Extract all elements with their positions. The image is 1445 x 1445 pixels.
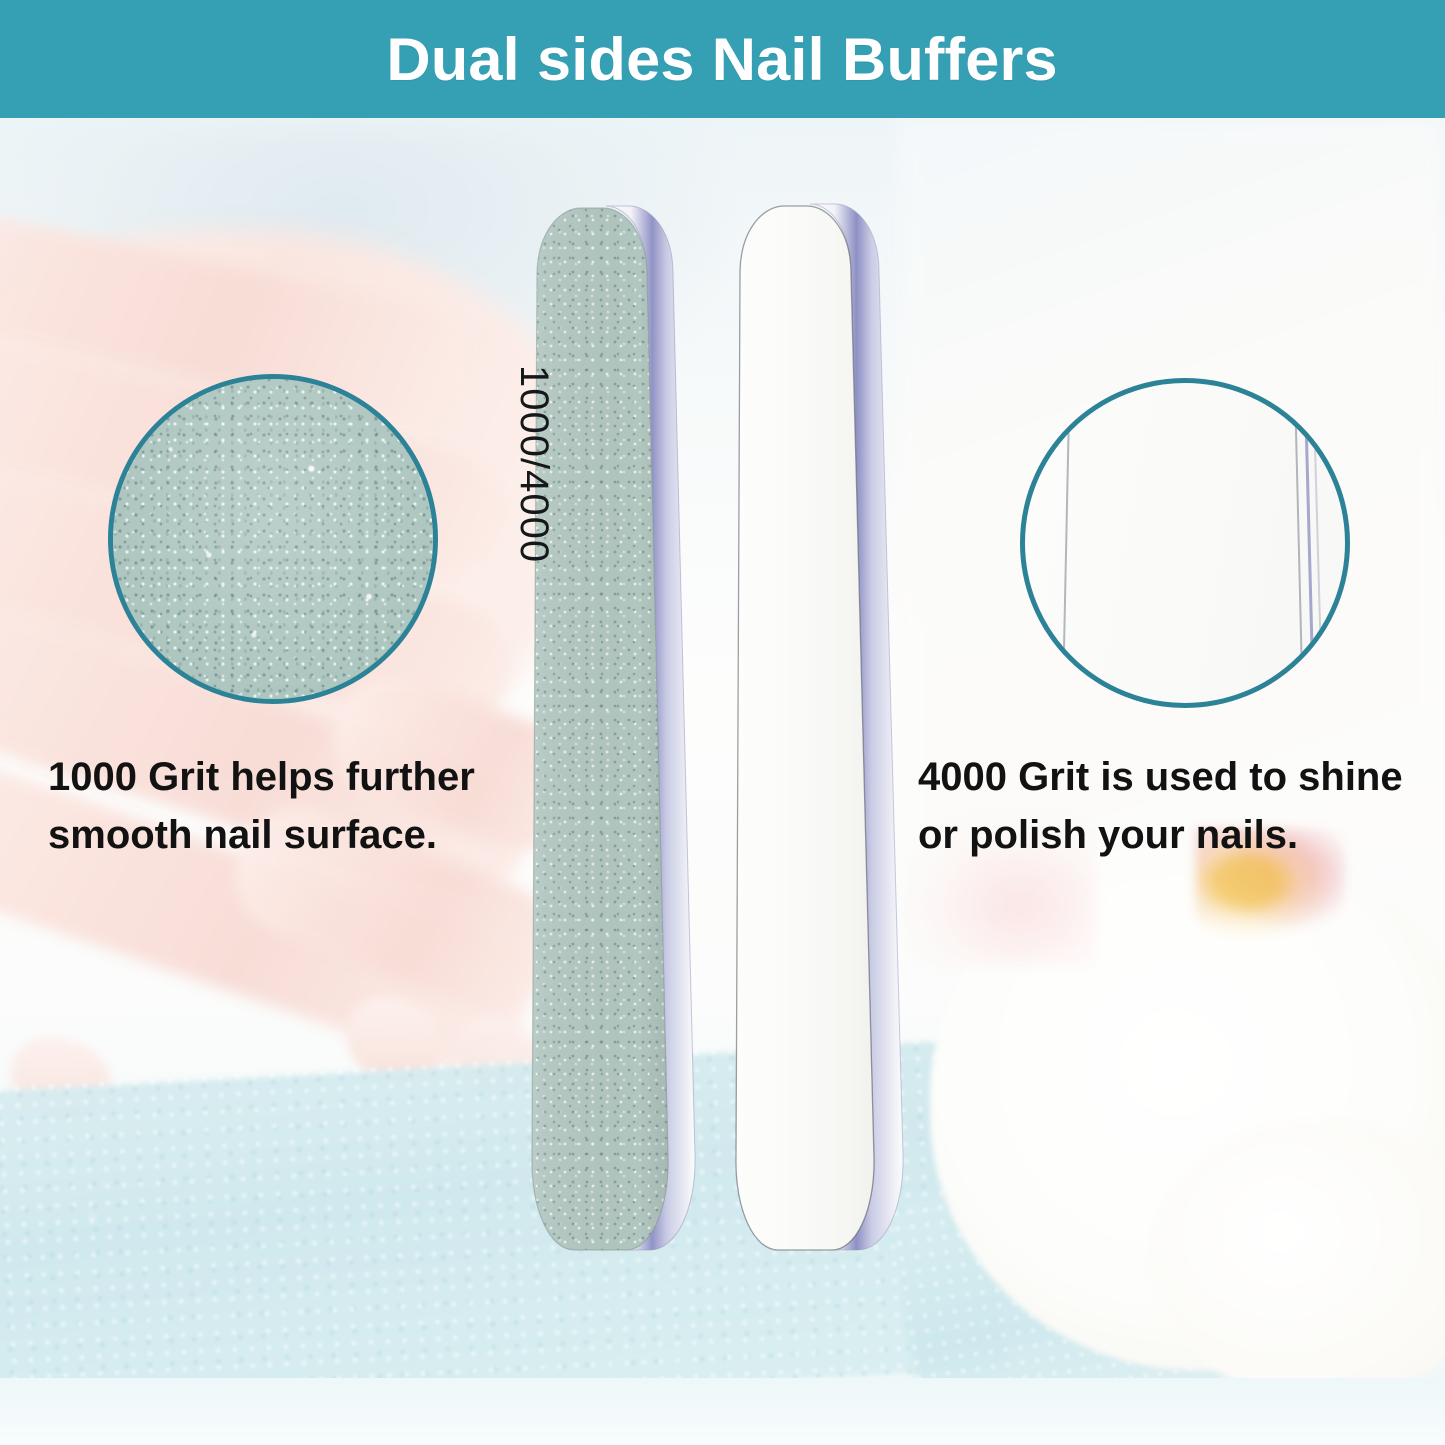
buffer-outline-line-right <box>1294 378 1305 708</box>
magnifier-right-4000-grit <box>1020 378 1350 708</box>
footer-bar: PS：This size is for nail buffering, not … <box>0 1378 1445 1445</box>
nail-buffer-white-side <box>700 198 915 1308</box>
magnifier-left-1000-grit <box>108 374 438 704</box>
product-infographic: 1000/4000 1000 Grit helps further smooth… <box>0 0 1445 1445</box>
buffer-white-body <box>736 206 874 1250</box>
header-banner: Dual sides Nail Buffers <box>0 0 1445 118</box>
grit-sparkle-overlay <box>113 379 433 699</box>
caption-1000-grit: 1000 Grit helps further smooth nail surf… <box>48 748 518 864</box>
page-title: Dual sides Nail Buffers <box>387 25 1058 94</box>
grit-label: 1000/4000 <box>511 365 556 563</box>
caption-4000-grit: 4000 Grit is used to shine or polish you… <box>918 748 1445 864</box>
